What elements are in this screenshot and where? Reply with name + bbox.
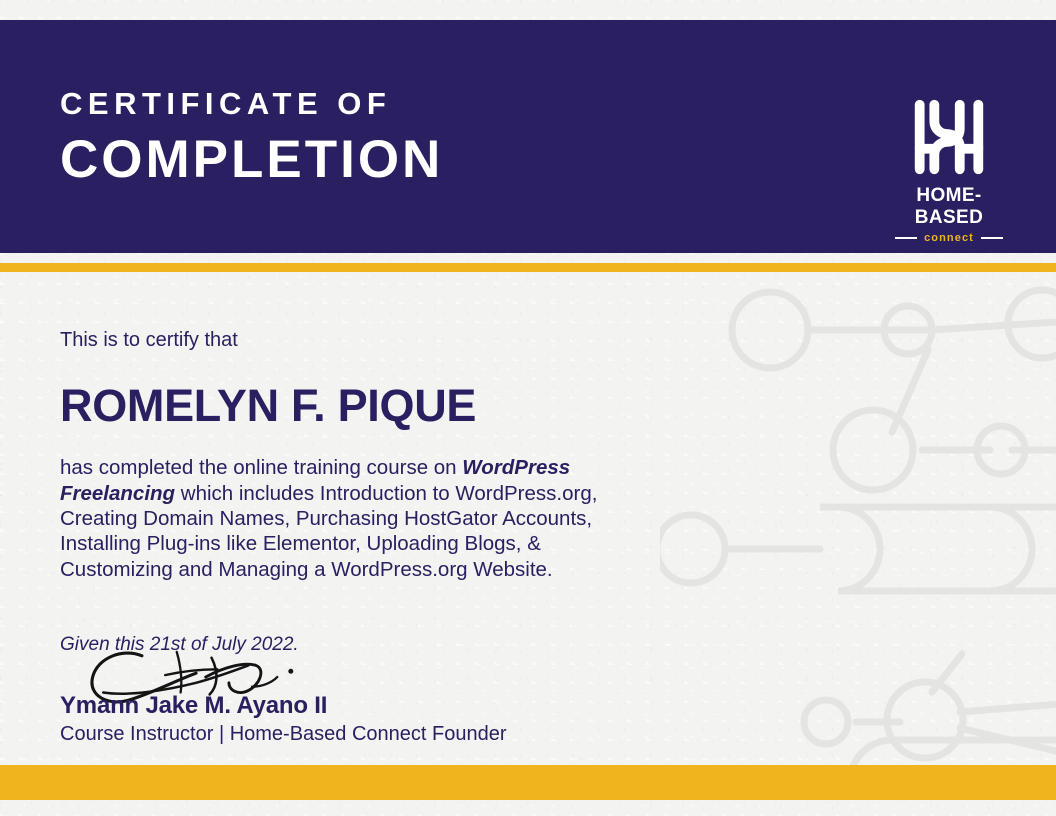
gold-band-bottom [0, 765, 1056, 800]
signer-role: Course Instructor | Home-Based Connect F… [60, 722, 580, 746]
certificate-title-line-1: CERTIFICATE OF [60, 88, 443, 119]
logo-rule-left [895, 237, 917, 239]
course-description: has completed the online training course… [60, 455, 640, 582]
signer-name: Ymann Jake M. Ayano II [60, 648, 580, 720]
logo-rule-right [981, 237, 1003, 239]
recipient-name: ROMELYN F. PIQUE [60, 382, 640, 429]
description-prefix: has completed the online training course… [60, 456, 462, 479]
header-band: CERTIFICATE OF COMPLETION [0, 20, 1056, 253]
intro-text: This is to certify that [60, 328, 640, 352]
logo-tagline-row: connect [887, 232, 1011, 244]
certificate-title-line-2: COMPLETION [60, 133, 443, 186]
certificate-title-block: CERTIFICATE OF COMPLETION [60, 88, 443, 186]
certificate-body: This is to certify that ROMELYN F. PIQUE… [60, 328, 640, 656]
logo-wordmark: HOME-BASED [887, 185, 1011, 229]
logo-tagline: connect [924, 232, 974, 244]
home-based-connect-h-monogram-icon [906, 92, 992, 182]
certificate-canvas: CERTIFICATE OF COMPLETION [0, 0, 1056, 816]
gold-divider-top [0, 263, 1056, 272]
signature-block: Ymann Jake M. Ayano II Course Instructor… [60, 648, 580, 746]
brand-logo: HOME-BASED connect [887, 92, 1011, 244]
